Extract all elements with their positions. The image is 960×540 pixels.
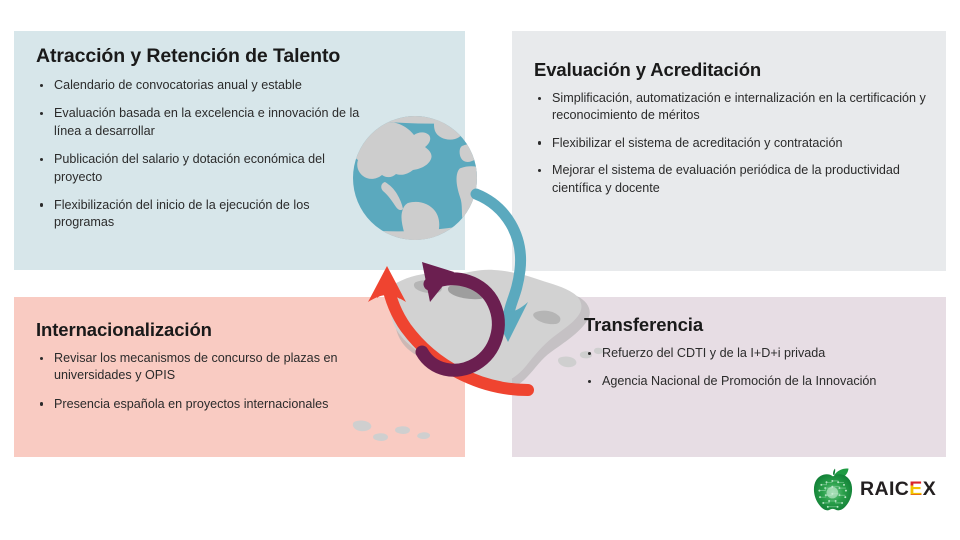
bullet-list-transferencia: Refuerzo del CDTI y de la I+D+i privada … (584, 345, 914, 391)
block-atraccion-y-retencion: Atracción y Retención de Talento Calenda… (36, 45, 366, 232)
list-item: Calendario de convocatorias anual y esta… (36, 77, 366, 94)
list-item-text: Calendario de convocatorias anual y esta… (54, 78, 302, 92)
bullet-dot-icon (40, 112, 43, 115)
list-item-text: Publicación del salario y dotación econó… (54, 152, 325, 183)
list-item: Revisar los mecanismos de concurso de pl… (36, 350, 406, 385)
list-item-text: Evaluación basada en la excelencia e inn… (54, 106, 359, 137)
list-item-text: Presencia española en proyectos internac… (54, 397, 328, 411)
logo-text-prefix: RAIC (860, 478, 909, 500)
bullet-dot-icon (588, 380, 591, 383)
raicex-wordmark: RAICEX (860, 480, 936, 500)
bullet-dot-icon (538, 97, 541, 100)
bullet-dot-icon (40, 84, 43, 87)
heading-transferencia: Transferencia (584, 314, 914, 336)
bullet-list-evaluacion: Simplificación, automatización e interna… (534, 90, 926, 197)
block-transferencia: Transferencia Refuerzo del CDTI y de la … (584, 314, 914, 391)
list-item-text: Flexibilizar el sistema de acreditación … (552, 136, 843, 150)
raicex-logo: RAICEX (812, 466, 940, 514)
list-item-text: Revisar los mecanismos de concurso de pl… (54, 351, 338, 382)
list-item: Refuerzo del CDTI y de la I+D+i privada (584, 345, 914, 362)
list-item: Evaluación basada en la excelencia e inn… (36, 105, 366, 140)
list-item-text: Flexibilización del inicio de la ejecuci… (54, 198, 310, 229)
heading-atraccion-y-retencion: Atracción y Retención de Talento (36, 45, 366, 68)
list-item-text: Agencia Nacional de Promoción de la Inno… (602, 374, 876, 388)
list-item-text: Simplificación, automatización e interna… (552, 91, 926, 122)
list-item: Simplificación, automatización e interna… (534, 90, 926, 125)
bullet-dot-icon (538, 141, 541, 144)
heading-evaluacion-y-acreditacion: Evaluación y Acreditación (534, 59, 926, 81)
list-item: Flexibilización del inicio de la ejecuci… (36, 197, 366, 232)
bullet-dot-icon (40, 158, 43, 161)
apple-circuit-icon (812, 468, 854, 512)
bullet-dot-icon (588, 352, 591, 355)
list-item: Mejorar el sistema de evaluación periódi… (534, 162, 926, 197)
bullet-list-internacionalizacion: Revisar los mecanismos de concurso de pl… (36, 350, 406, 413)
bullet-dot-icon (538, 169, 541, 172)
list-item: Publicación del salario y dotación econó… (36, 151, 366, 186)
slide-canvas: Atracción y Retención de Talento Calenda… (0, 0, 960, 540)
bullet-dot-icon (40, 357, 43, 360)
logo-text-suffix: X (923, 478, 936, 500)
list-item: Flexibilizar el sistema de acreditación … (534, 135, 926, 152)
block-internacionalizacion: Internacionalización Revisar los mecanis… (36, 319, 406, 413)
list-item: Presencia española en proyectos internac… (36, 396, 406, 413)
heading-internacionalizacion: Internacionalización (36, 319, 406, 341)
list-item: Agencia Nacional de Promoción de la Inno… (584, 373, 914, 390)
list-item-text: Mejorar el sistema de evaluación periódi… (552, 163, 900, 194)
block-evaluacion-y-acreditacion: Evaluación y Acreditación Simplificación… (534, 59, 926, 197)
bullet-dot-icon (40, 203, 43, 206)
logo-text-accent: E (909, 480, 922, 500)
list-item-text: Refuerzo del CDTI y de la I+D+i privada (602, 346, 825, 360)
bullet-dot-icon (40, 402, 43, 405)
bullet-list-atraccion: Calendario de convocatorias anual y esta… (36, 77, 366, 232)
